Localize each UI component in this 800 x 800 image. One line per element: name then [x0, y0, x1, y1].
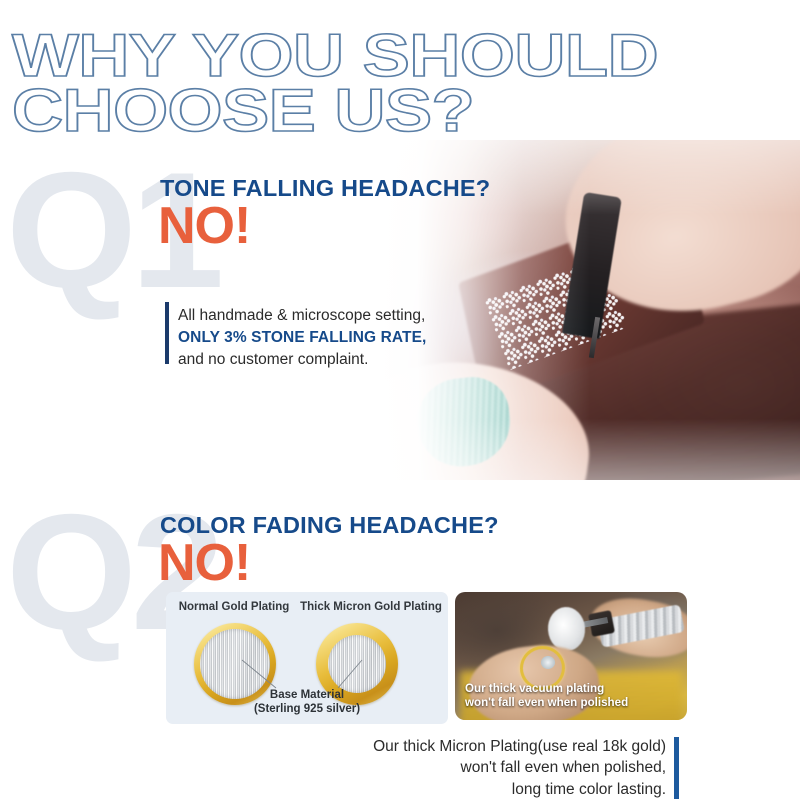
plating-comparison-panel: Normal Gold Plating Thick Micron Gold Pl… [166, 592, 448, 724]
page-title: WHY YOU SHOULD CHOOSE US? [12, 28, 658, 138]
q1-body-line-2: ONLY 3% STONE FALLING RATE, [178, 327, 426, 349]
q1-body-line-3: and no customer complaint. [178, 349, 426, 371]
q1-body-line-1: All handmade & microscope setting, [178, 305, 426, 327]
base-material-line-1: Base Material [254, 688, 360, 702]
q2-answer: NO! [158, 537, 250, 589]
bottom-note-text: Our thick Micron Plating(use real 18k go… [330, 736, 666, 800]
photo-caption-line-1: Our thick vacuum plating [465, 682, 628, 696]
bottom-note-line-1: Our thick Micron Plating(use real 18k go… [330, 736, 666, 757]
q1-answer: NO! [158, 200, 250, 252]
ring-stone-shape [541, 656, 555, 669]
bottom-note-line-2: won't fall even when polished, [330, 757, 666, 778]
q1-body-text: All handmade & microscope setting, ONLY … [178, 305, 426, 371]
headline-line-1: WHY YOU SHOULD [12, 28, 658, 83]
polishing-photo: Our thick vacuum plating won't fall even… [455, 592, 687, 720]
infographic-page: WHY YOU SHOULD CHOOSE US? Q1 TONE FALLIN… [0, 0, 800, 800]
photo-caption-line-2: won't fall even when polished [465, 696, 628, 710]
base-material-line-2: (Sterling 925 silver) [254, 702, 360, 716]
base-material-note: Base Material (Sterling 925 silver) [254, 688, 360, 716]
q1-accent-bar [165, 302, 169, 364]
bottom-note-line-3: long time color lasting. [330, 779, 666, 800]
headline-line-2: CHOOSE US? [12, 83, 658, 138]
bottom-accent-bar [674, 737, 679, 799]
photo-caption: Our thick vacuum plating won't fall even… [465, 682, 628, 710]
